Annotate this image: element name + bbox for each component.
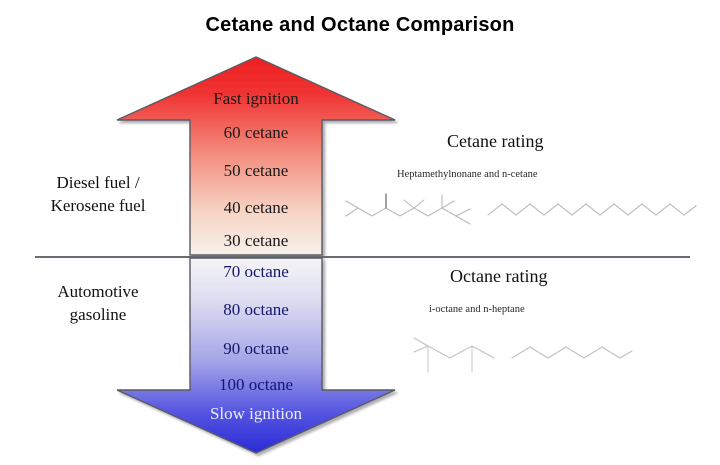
- octane-rating-subtitle: i-octane and n-heptane: [429, 304, 525, 315]
- arrow-label-100-octane: 100 octane: [166, 375, 346, 395]
- left-label-gasoline: Automotive gasoline: [8, 281, 188, 327]
- arrow-label-fast-ignition: Fast ignition: [166, 89, 346, 109]
- molecule-heptamethylnonane: [340, 192, 490, 237]
- arrow-label-70-octane: 70 octane: [166, 262, 346, 282]
- arrow-label-90-octane: 90 octane: [166, 339, 346, 359]
- left-label-diesel-line2: Kerosene fuel: [8, 195, 188, 218]
- diagram-canvas: Cetane and Octane Comparison: [0, 0, 720, 465]
- molecule-n-heptane: [508, 340, 636, 366]
- arrow-label-80-octane: 80 octane: [166, 300, 346, 320]
- arrow-label-60-cetane: 60 cetane: [166, 123, 346, 143]
- molecule-n-cetane: [486, 197, 698, 223]
- left-label-diesel-line1: Diesel fuel /: [8, 172, 188, 195]
- section-divider: [35, 256, 690, 258]
- arrow-label-30-cetane: 30 cetane: [166, 231, 346, 251]
- cetane-rating-subtitle: Heptamethylnonane and n-cetane: [397, 169, 538, 180]
- octane-rating-heading: Octane rating: [450, 266, 547, 287]
- arrow-label-slow-ignition: Slow ignition: [166, 404, 346, 424]
- arrow-label-40-cetane: 40 cetane: [166, 198, 346, 218]
- left-label-gasoline-line1: Automotive: [8, 281, 188, 304]
- arrow-label-50-cetane: 50 cetane: [166, 161, 346, 181]
- page-title: Cetane and Octane Comparison: [0, 14, 720, 37]
- cetane-rating-heading: Cetane rating: [447, 131, 543, 152]
- molecule-i-octane: [408, 332, 514, 380]
- left-label-diesel: Diesel fuel / Kerosene fuel: [8, 172, 188, 218]
- left-label-gasoline-line2: gasoline: [8, 304, 188, 327]
